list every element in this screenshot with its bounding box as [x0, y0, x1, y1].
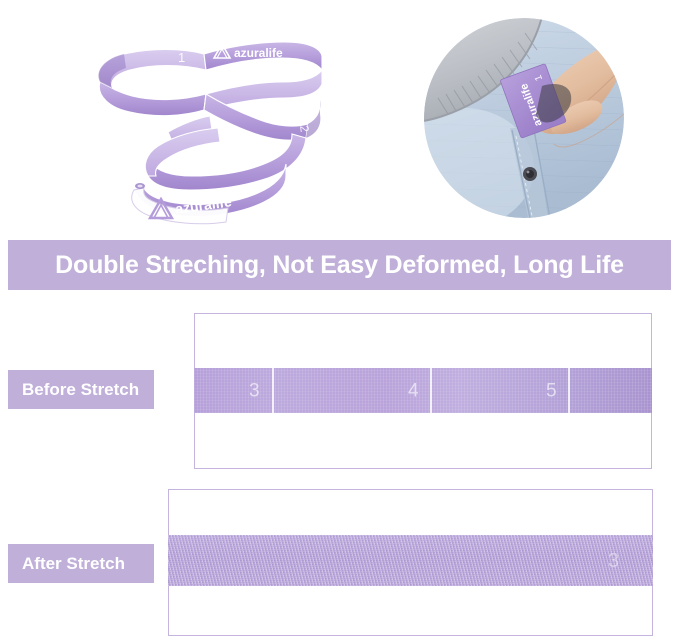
- headline-text: Double Streching, Not Easy Deformed, Lon…: [55, 251, 624, 280]
- band-segment-number-5: 5: [546, 381, 557, 400]
- band-segment-divider: [272, 368, 274, 413]
- band-weave-texture-stretched: [168, 535, 653, 586]
- after-stretch-label-text: After Stretch: [22, 554, 125, 574]
- band-segment-number-4: 4: [408, 381, 419, 400]
- headline-banner: Double Streching, Not Easy Deformed, Lon…: [8, 240, 671, 290]
- before-stretch-label-text: Before Stretch: [22, 380, 139, 400]
- after-stretch-band-photo: 3: [168, 535, 653, 586]
- top-photo-section: azuralife 1 2 azuralife: [0, 0, 679, 232]
- band-weave-texture: [194, 368, 652, 413]
- band-segment-divider: [430, 368, 432, 413]
- looped-resistance-band-photo: azuralife 1 2 azuralife: [78, 14, 328, 230]
- band-segment-number-3: 3: [249, 381, 260, 400]
- band-segment-number-3-stretched: 3: [608, 551, 619, 571]
- band-segment-number-1: 1: [178, 50, 185, 65]
- band-segment-divider: [568, 368, 570, 413]
- before-stretch-label: Before Stretch: [8, 370, 154, 409]
- band-in-jeans-pocket-photo: azuralife 1: [424, 18, 624, 218]
- svg-text:azuralife: azuralife: [234, 46, 283, 60]
- after-stretch-label: After Stretch: [8, 544, 154, 583]
- before-stretch-band-photo: 3 4 5: [194, 368, 652, 413]
